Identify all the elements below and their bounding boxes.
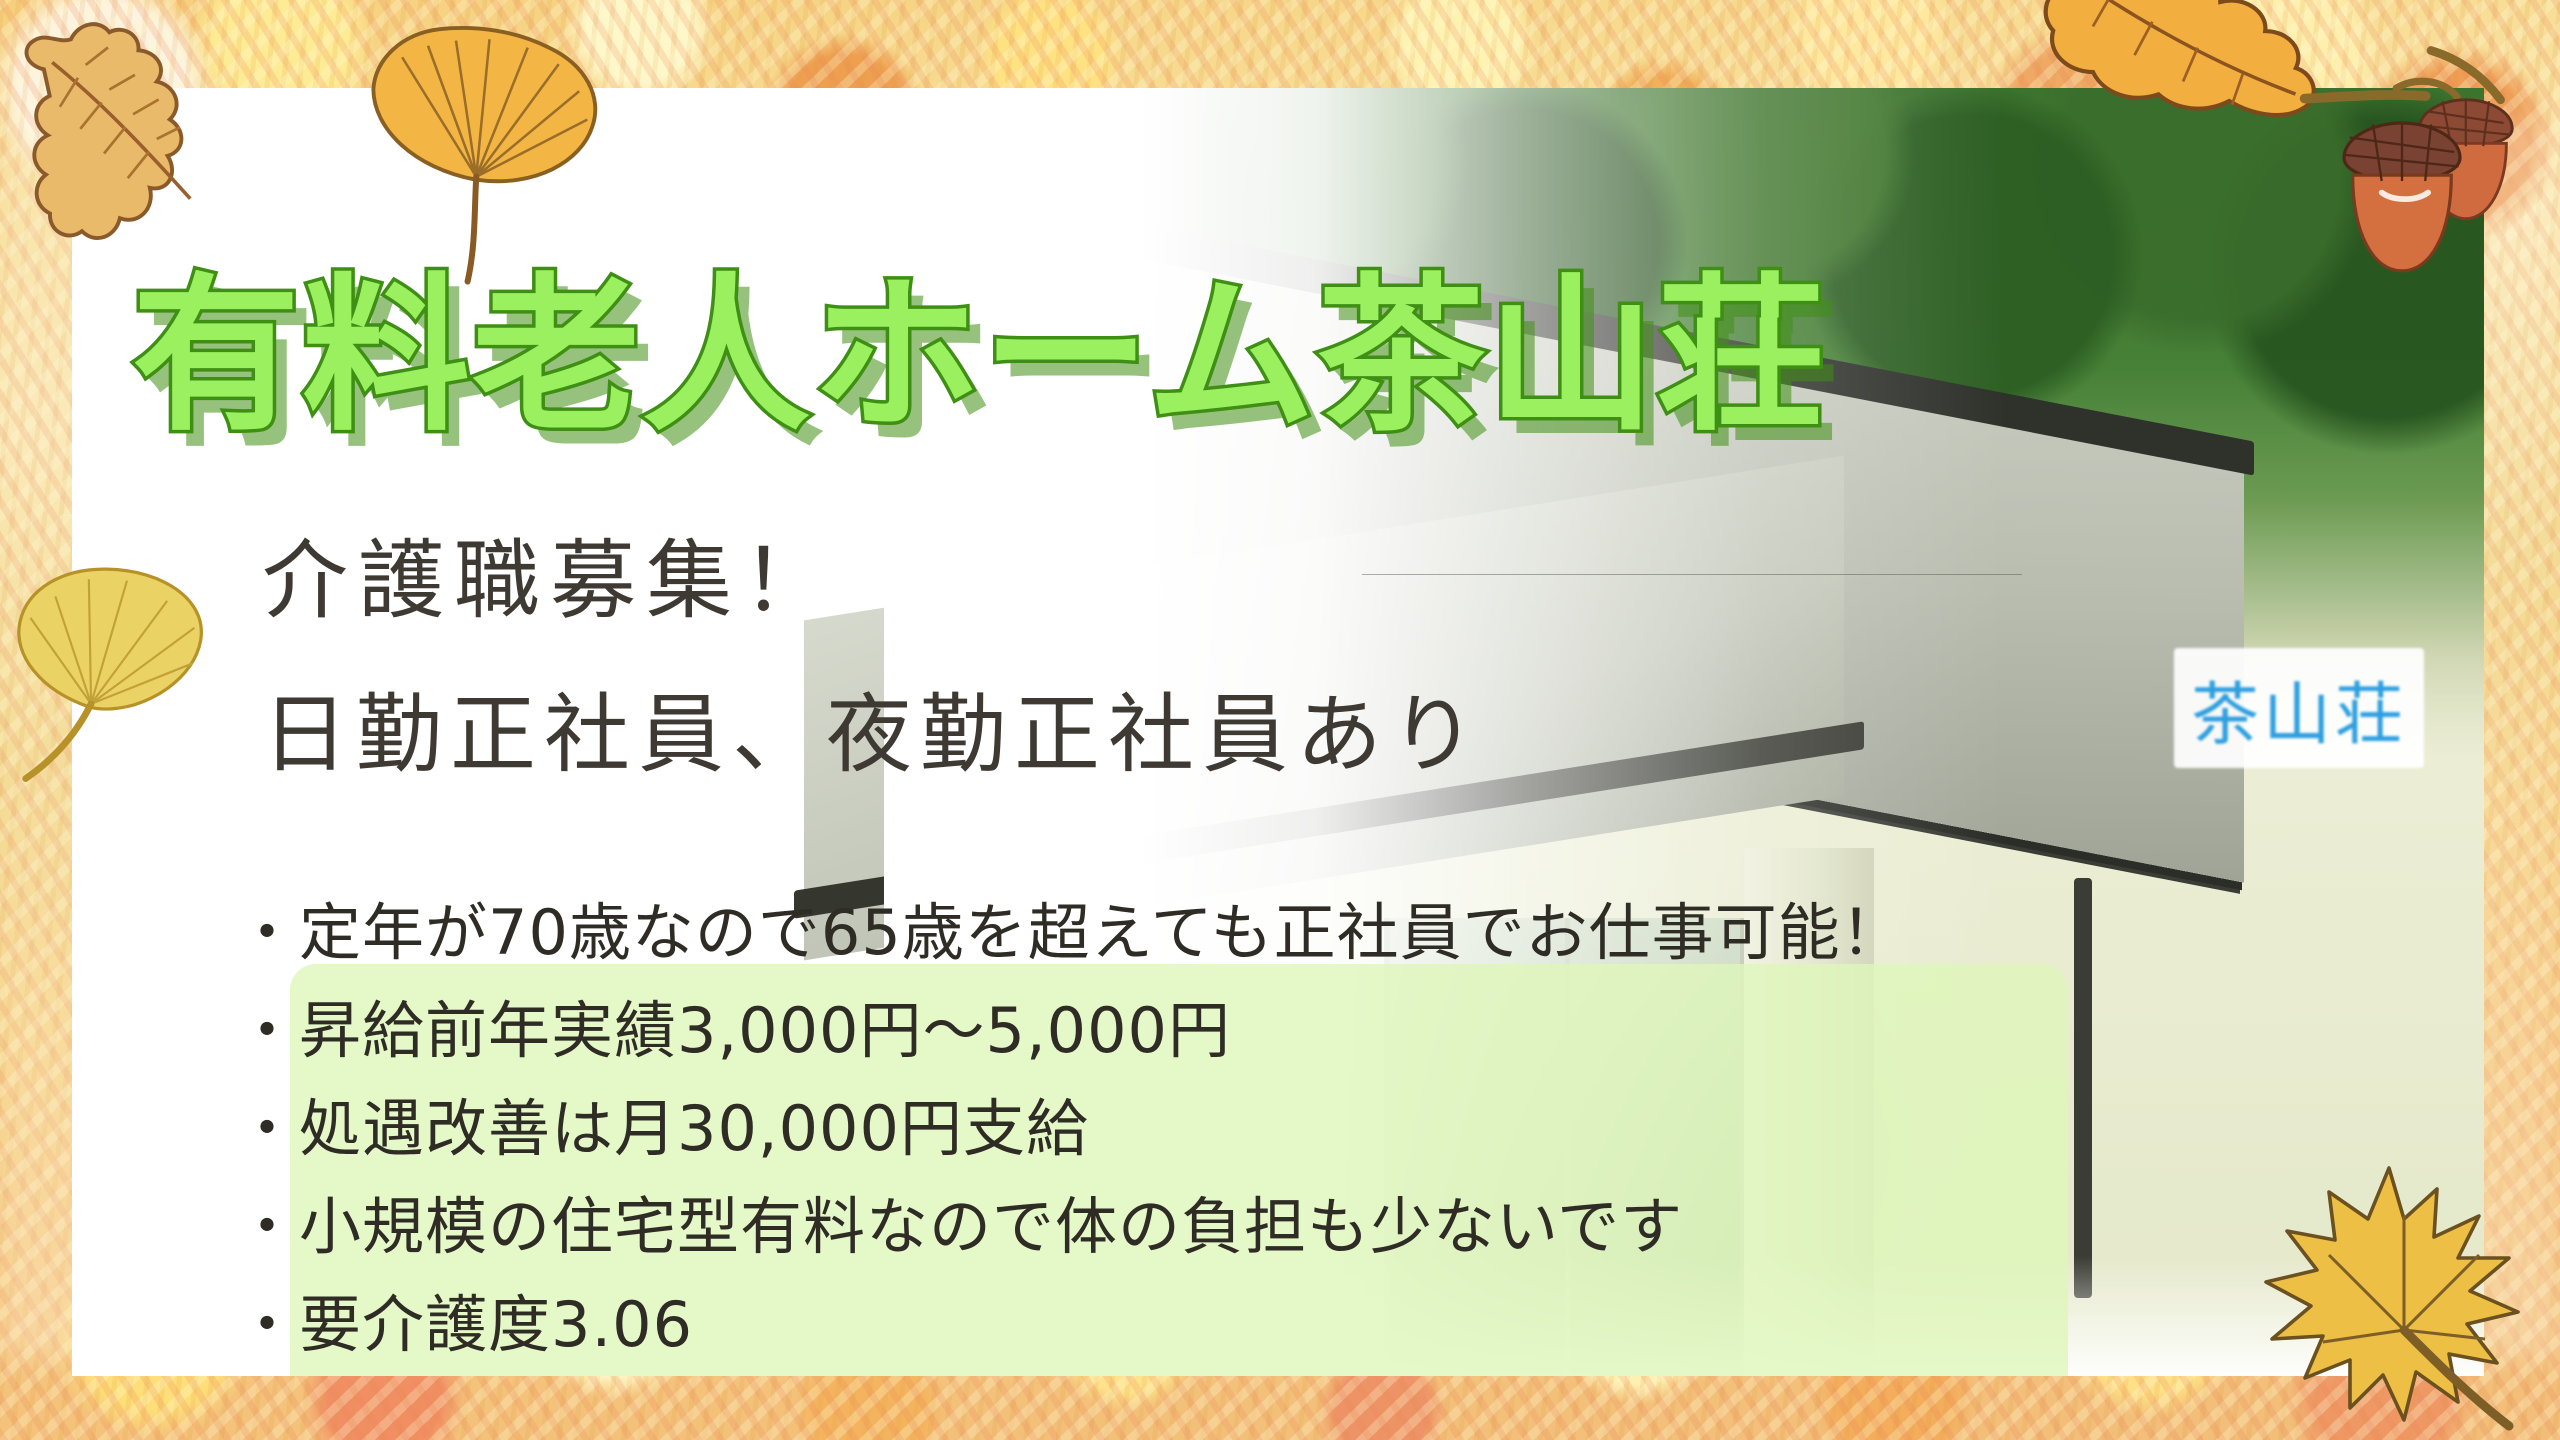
list-item: ・小規模の住宅型有料なので体の負担も少ないです <box>236 1178 2036 1276</box>
poster-stage: 茶山荘 有料老人ホーム茶山荘 介護職募集！ 日勤正社員、夜勤正社員あり ・定年が… <box>0 0 2560 1440</box>
list-item: ・要介護度3.06 <box>236 1276 2036 1374</box>
page-title: 有料老人ホーム茶山荘 <box>132 272 1827 440</box>
maple-leaf-icon <box>2230 1150 2560 1440</box>
ginkgo-leaf-icon <box>311 0 650 319</box>
list-item: ・処遇改善は月30,000円支給 <box>236 1080 2036 1178</box>
ginkgo-leaf-icon <box>0 507 274 824</box>
list-item: ・昇給前年実績3,000円～5,000円 <box>236 982 2036 1080</box>
oak-leaf-icon <box>0 0 355 306</box>
subtitle-positions: 日勤正社員、夜勤正社員あり <box>262 692 1484 778</box>
benefits-list: ・定年が70歳なので65歳を超えても正社員でお仕事可能！ ・昇給前年実績3,00… <box>236 884 2036 1374</box>
acorn-icon <box>2252 36 2552 326</box>
list-item: ・定年が70歳なので65歳を超えても正社員でお仕事可能！ <box>236 884 2036 982</box>
decorative-hairline <box>1362 574 2022 575</box>
subtitle-recruiting: 介護職募集！ <box>262 538 838 624</box>
